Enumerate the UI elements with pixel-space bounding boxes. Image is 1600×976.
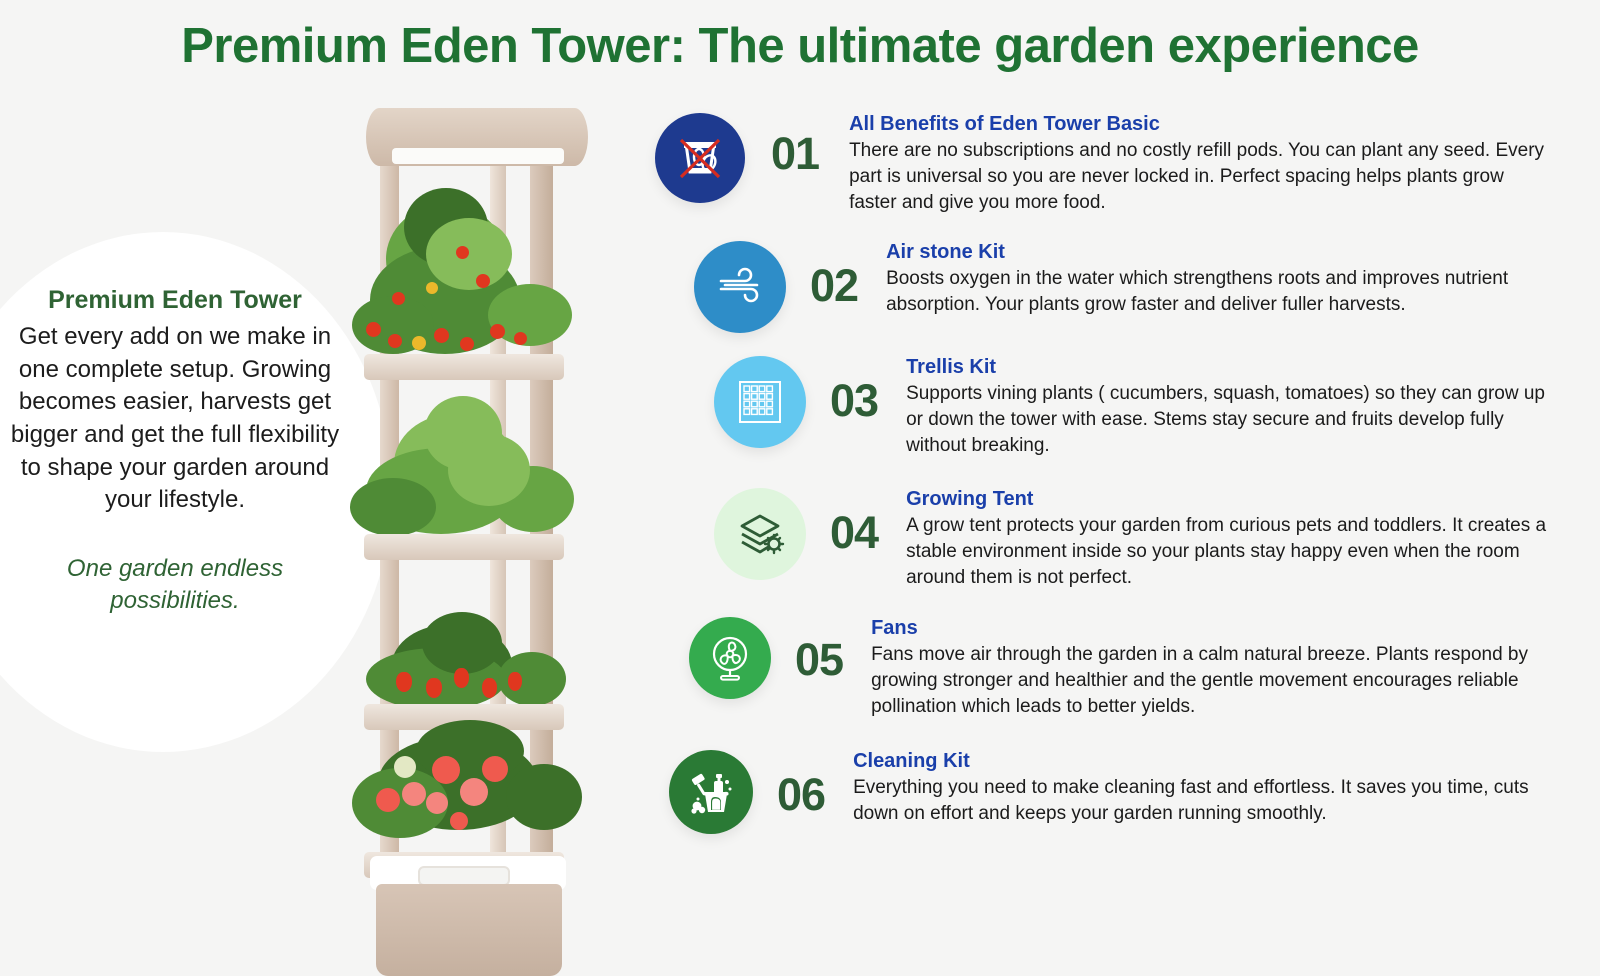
- feature-number-04: 04: [830, 510, 878, 555]
- trellis-grid-icon: [734, 376, 786, 428]
- feature-title-06: Cleaning Kit: [853, 750, 1569, 773]
- cleaning-supplies-icon: [685, 766, 737, 818]
- feature-title-03: Trellis Kit: [906, 356, 1564, 379]
- feature-item-03: 03 Trellis Kit Supports vining plants ( …: [714, 356, 1564, 459]
- hero-body-text: Get every add on we make in one complete…: [6, 321, 344, 517]
- feature-icon-03: [714, 356, 806, 448]
- feature-description-05: Fans move air through the garden in a ca…: [871, 642, 1569, 720]
- feature-title-04: Growing Tent: [906, 488, 1574, 511]
- feature-text-02: Air stone Kit Boosts oxygen in the water…: [886, 241, 1564, 318]
- feature-item-02: 02 Air stone Kit Boosts oxygen in the wa…: [694, 241, 1564, 333]
- feature-icon-06: [669, 750, 753, 834]
- feature-text-06: Cleaning Kit Everything you need to make…: [853, 750, 1569, 827]
- no-refill-pod-icon: [674, 132, 726, 184]
- feature-item-06: 06 Cleaning Kit Everything you need to m…: [669, 750, 1569, 834]
- feature-item-04: 04 Growing Tent A grow tent protects you…: [714, 488, 1574, 591]
- feature-icon-02: [694, 241, 786, 333]
- tower-tray-2: [364, 534, 564, 560]
- hero-tagline: One garden endless possibilities.: [6, 553, 344, 617]
- feature-text-04: Growing Tent A grow tent protects your g…: [906, 488, 1574, 591]
- tower-water-tank: [376, 884, 562, 976]
- layers-gear-icon: [734, 508, 786, 560]
- feature-title-02: Air stone Kit: [886, 241, 1564, 264]
- feature-description-03: Supports vining plants ( cucumbers, squa…: [906, 381, 1564, 459]
- tower-basin-lid: [418, 866, 510, 886]
- tower-grow-light: [392, 148, 564, 164]
- feature-number-05: 05: [795, 637, 843, 682]
- feature-number-01: 01: [771, 131, 819, 176]
- feature-text-05: Fans Fans move air through the garden in…: [871, 617, 1569, 720]
- feature-description-06: Everything you need to make cleaning fas…: [853, 775, 1569, 827]
- feature-title-05: Fans: [871, 617, 1569, 640]
- feature-icon-01: [655, 113, 745, 203]
- hero-copy-block: Premium Eden Tower Get every add on we m…: [6, 286, 344, 617]
- feature-icon-05: [689, 617, 771, 699]
- feature-title-01: All Benefits of Eden Tower Basic: [849, 113, 1545, 136]
- feature-description-01: There are no subscriptions and no costly…: [849, 138, 1545, 216]
- feature-description-04: A grow tent protects your garden from cu…: [906, 513, 1574, 591]
- feature-number-03: 03: [830, 378, 878, 423]
- tower-tray-1: [364, 354, 564, 380]
- product-image-eden-tower: [330, 96, 630, 886]
- feature-number-02: 02: [810, 263, 858, 308]
- page-title: Premium Eden Tower: The ultimate garden …: [0, 18, 1600, 74]
- feature-item-01: 01 All Benefits of Eden Tower Basic Ther…: [655, 113, 1545, 216]
- feature-item-05: 05 Fans Fans move air through the garden…: [689, 617, 1569, 720]
- feature-icon-04: [714, 488, 806, 580]
- fan-icon: [705, 633, 755, 683]
- feature-text-01: All Benefits of Eden Tower Basic There a…: [849, 113, 1545, 216]
- feature-text-03: Trellis Kit Supports vining plants ( cuc…: [906, 356, 1564, 459]
- wind-icon: [713, 260, 767, 314]
- feature-description-02: Boosts oxygen in the water which strengt…: [886, 266, 1564, 318]
- feature-number-06: 06: [777, 772, 825, 817]
- hero-heading: Premium Eden Tower: [6, 286, 344, 315]
